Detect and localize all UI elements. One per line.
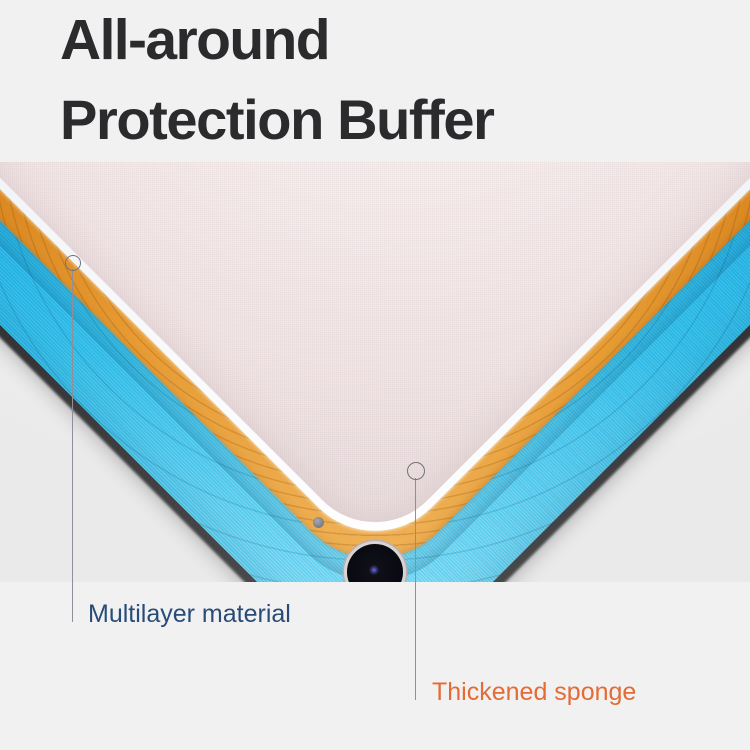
callout-label-multilayer-material: Multilayer material — [88, 600, 291, 629]
callout-label-thickened-sponge: Thickened sponge — [432, 678, 636, 707]
callout-anchor-multilayer-material — [65, 255, 81, 271]
callout-leader-line-multilayer-material — [72, 269, 73, 622]
headline-block: All-around Protection Buffer — [0, 0, 750, 162]
callout-leader-line-thickened-sponge — [415, 478, 416, 700]
camera-lens-glint — [369, 565, 379, 575]
microphone-hole — [313, 517, 324, 528]
callout-anchor-thickened-sponge — [407, 462, 425, 480]
headline-line-1: All-around — [60, 12, 750, 69]
promo-image-root: All-around Protection Buffer Multilayer … — [0, 0, 750, 750]
headline-line-2: Protection Buffer — [60, 92, 750, 148]
product-photo — [0, 162, 750, 582]
